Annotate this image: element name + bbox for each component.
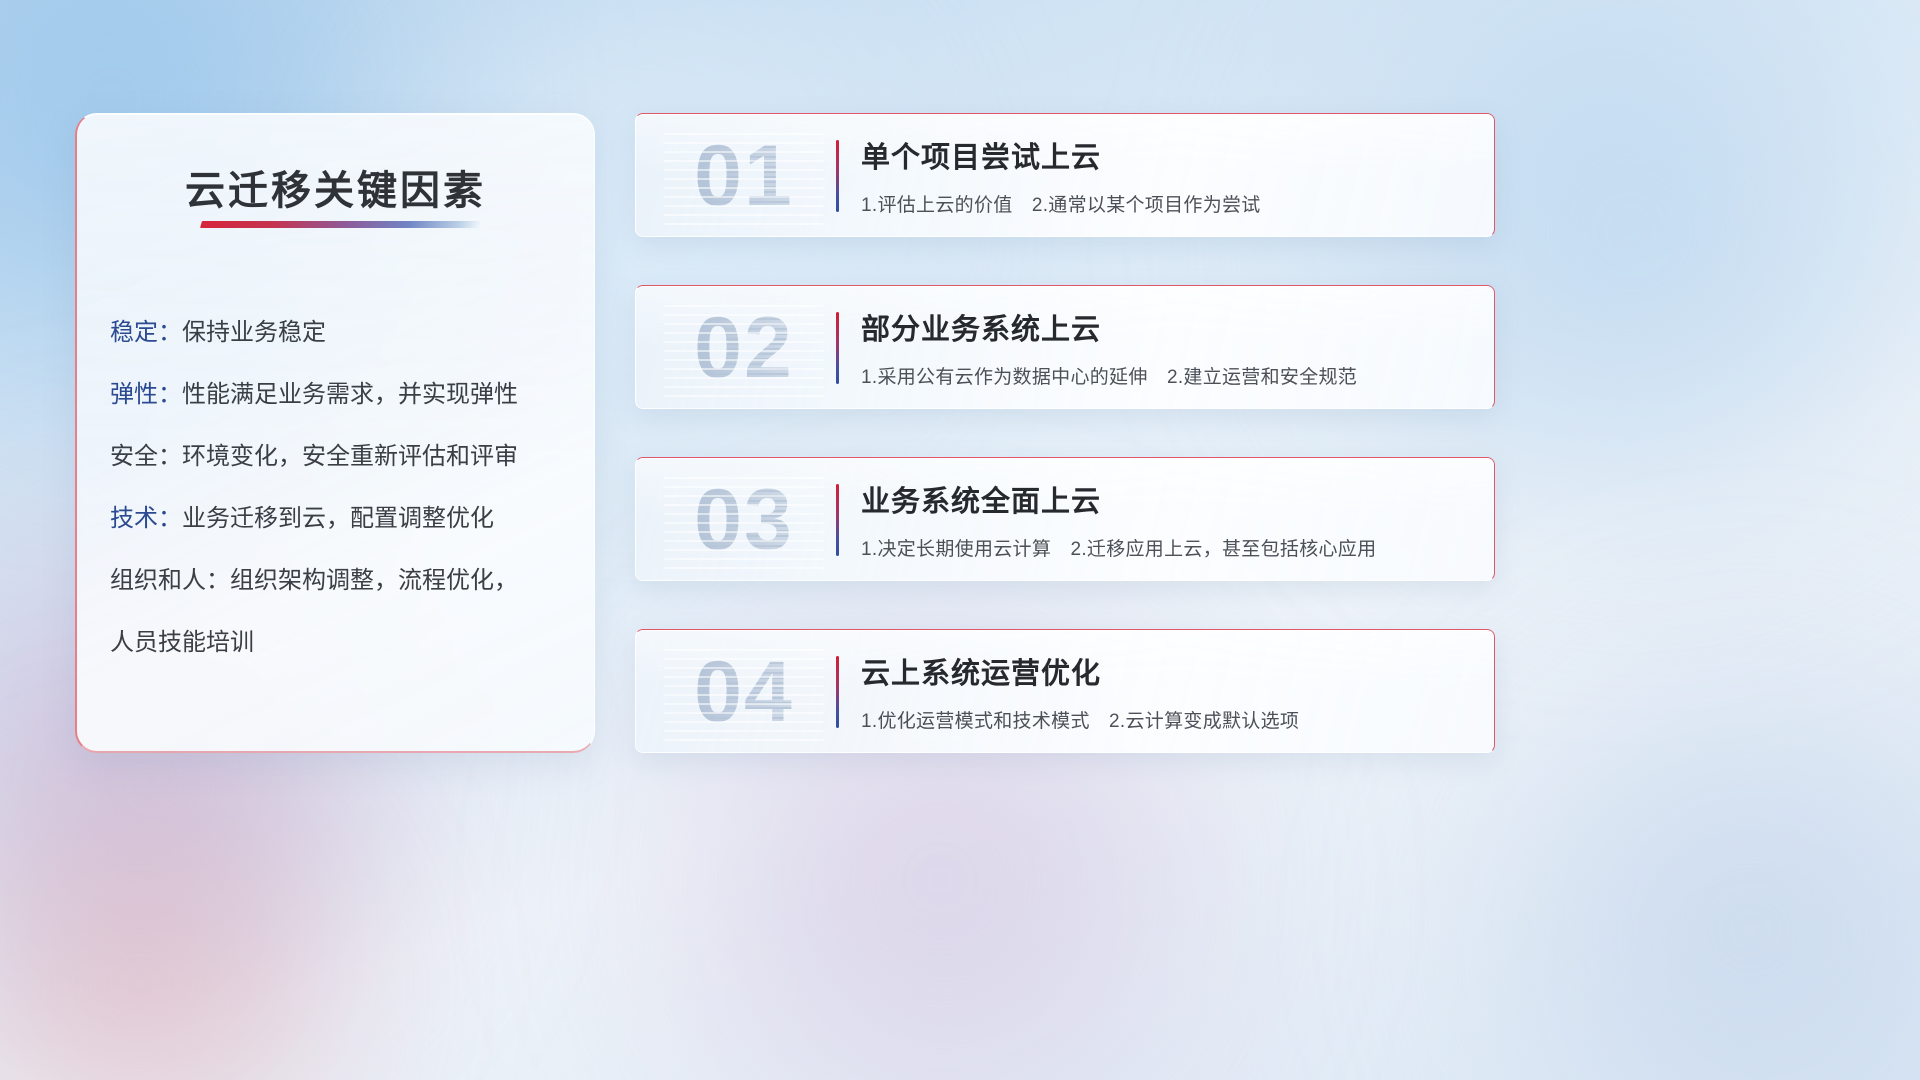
stage-card[interactable]: 01单个项目尝试上云1.评估上云的价值 2.通常以某个项目作为尝试 xyxy=(635,113,1495,237)
stage-divider xyxy=(836,656,839,728)
stage-card[interactable]: 04云上系统运营优化1.优化运营模式和技术模式 2.云计算变成默认选项 xyxy=(635,629,1495,753)
stage-divider xyxy=(836,484,839,556)
factor-row: 弹性：性能满足业务需求，并实现弹性 xyxy=(110,364,570,426)
stage-title: 业务系统全面上云 xyxy=(861,478,1101,520)
factor-label: 组织和人： xyxy=(110,567,230,594)
factor-row: 技术：业务迁移到云，配置调整优化 xyxy=(110,488,570,550)
key-factors-panel: 云迁移关键因素 稳定：保持业务稳定弹性：性能满足业务需求，并实现弹性安全：环境变… xyxy=(75,113,595,753)
factor-value: 人员技能培训 xyxy=(110,629,254,656)
factor-row: 人员技能培训 xyxy=(110,612,570,674)
stage-description: 1.采用公有云作为数据中心的延伸 2.建立运营和安全规范 xyxy=(861,362,1357,389)
factor-row: 稳定：保持业务稳定 xyxy=(110,302,570,364)
stage-card[interactable]: 03业务系统全面上云1.决定长期使用云计算 2.迁移应用上云，甚至包括核心应用 xyxy=(635,457,1495,581)
factor-value: 环境变化，安全重新评估和评审 xyxy=(182,443,518,470)
page-title: 云迁移关键因素 xyxy=(77,158,594,216)
factor-value: 性能满足业务需求，并实现弹性 xyxy=(182,381,518,408)
stage-number: 03 xyxy=(664,470,824,570)
stage-description: 1.评估上云的价值 2.通常以某个项目作为尝试 xyxy=(861,190,1261,217)
factor-label: 稳定： xyxy=(110,319,182,346)
stage-title: 云上系统运营优化 xyxy=(861,650,1101,692)
stage-number: 01 xyxy=(664,126,824,226)
title-underline-accent xyxy=(200,221,482,228)
factor-list: 稳定：保持业务稳定弹性：性能满足业务需求，并实现弹性安全：环境变化，安全重新评估… xyxy=(110,302,570,674)
stage-number: 02 xyxy=(664,298,824,398)
factor-label: 弹性： xyxy=(110,381,182,408)
stage-title: 单个项目尝试上云 xyxy=(861,134,1101,176)
stage-description: 1.优化运营模式和技术模式 2.云计算变成默认选项 xyxy=(861,706,1299,733)
factor-value: 保持业务稳定 xyxy=(182,319,326,346)
stage-number: 04 xyxy=(664,642,824,742)
stage-divider xyxy=(836,312,839,384)
stage-divider xyxy=(836,140,839,212)
factor-value: 组织架构调整，流程优化， xyxy=(230,567,518,594)
factor-row: 安全：环境变化，安全重新评估和评审 xyxy=(110,426,570,488)
stage-title: 部分业务系统上云 xyxy=(861,306,1101,348)
factor-label: 安全： xyxy=(110,443,182,470)
factor-label: 技术： xyxy=(110,505,182,532)
factor-row: 组织和人：组织架构调整，流程优化， xyxy=(110,550,570,612)
stage-card[interactable]: 02部分业务系统上云1.采用公有云作为数据中心的延伸 2.建立运营和安全规范 xyxy=(635,285,1495,409)
factor-value: 业务迁移到云，配置调整优化 xyxy=(182,505,494,532)
stage-description: 1.决定长期使用云计算 2.迁移应用上云，甚至包括核心应用 xyxy=(861,534,1376,561)
